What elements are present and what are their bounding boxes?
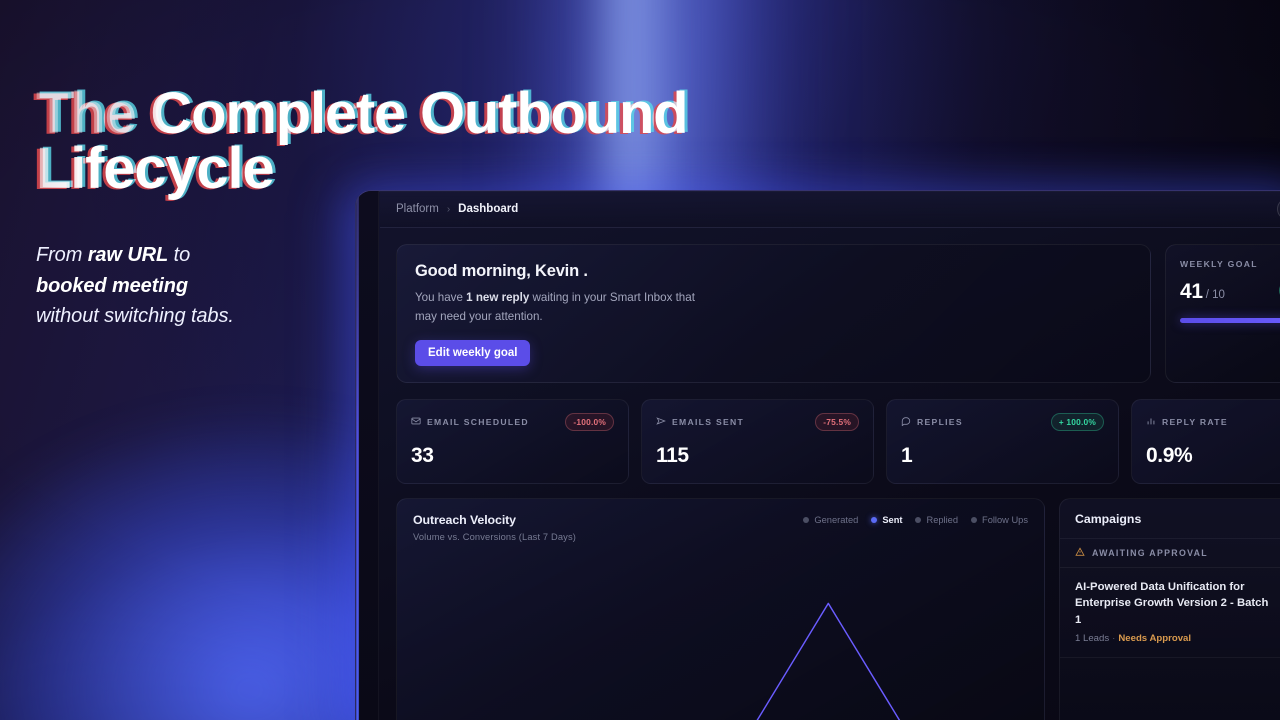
campaigns-section-label: AWAITING APPROVAL	[1092, 548, 1208, 558]
stat-header: EMAILS SENT -75.5%	[656, 413, 859, 431]
legend-dot-icon	[803, 517, 809, 523]
legend-item-generated[interactable]: Generated	[803, 515, 858, 525]
greeting-row: Good morning, Kevin . You have 1 new rep…	[396, 244, 1280, 383]
breadcrumb-platform[interactable]: Platform	[396, 203, 439, 215]
campaign-status: Needs Approval	[1118, 633, 1191, 644]
dashboard-content: Good morning, Kevin . You have 1 new rep…	[380, 228, 1280, 720]
stat-value: 0.9%	[1146, 444, 1280, 468]
headline-line-2: Lifecycle Lifecycle Lifecycle	[36, 141, 456, 196]
headline-line-2-text: Lifecycle	[36, 136, 273, 201]
subcopy-to: to	[168, 244, 190, 266]
campaign-name: AI-Powered Data Unification for Enterpri…	[1075, 579, 1280, 628]
legend-label: Generated	[814, 515, 858, 525]
greeting-card: Good morning, Kevin . You have 1 new rep…	[396, 244, 1151, 383]
edit-weekly-goal-button[interactable]: Edit weekly goal	[415, 340, 530, 366]
stat-label: EMAILS SENT	[672, 417, 744, 427]
stat-card-replies[interactable]: REPLIES + 100.0% 1	[886, 399, 1119, 484]
stat-value: 1	[901, 444, 1104, 468]
campaign-leads-count: 1 Leads	[1075, 633, 1109, 644]
chart-plot-area	[397, 551, 1044, 720]
outreach-velocity-card: Outreach Velocity Volume vs. Conversions…	[396, 498, 1045, 720]
campaign-list-item[interactable]: AI-Powered Data Unification for Enterpri…	[1060, 568, 1280, 658]
campaigns-title: Campaigns	[1060, 499, 1280, 538]
stat-header: REPLY RATE	[1146, 413, 1280, 431]
stat-title: REPLY RATE	[1146, 413, 1228, 431]
chat-bubble-icon	[901, 413, 911, 431]
subcopy-raw-url: raw URL	[88, 244, 168, 266]
weekly-goal-target: / 10	[1206, 289, 1225, 301]
chart-title: Outreach Velocity	[413, 513, 576, 527]
subcopy-from: From	[36, 244, 88, 266]
stat-delta-badge: -100.0%	[565, 413, 614, 431]
campaigns-section-awaiting-approval: AWAITING APPROVAL	[1060, 538, 1280, 568]
chart-subtitle: Volume vs. Conversions (Last 7 Days)	[413, 532, 576, 542]
stat-label: EMAIL SCHEDULED	[427, 417, 529, 427]
chevron-right-icon: ›	[447, 204, 450, 215]
subcopy-booked-meeting: booked meeting	[36, 275, 188, 297]
greeting-title: Good morning, Kevin .	[415, 262, 1132, 281]
breadcrumb-dashboard[interactable]: Dashboard	[458, 203, 518, 215]
stat-value: 33	[411, 444, 614, 468]
legend-label: Sent	[882, 515, 902, 525]
stat-card-reply-rate[interactable]: REPLY RATE 0.9%	[1131, 399, 1280, 484]
stat-label: REPLY RATE	[1162, 417, 1228, 427]
chart-line-svg	[397, 551, 1044, 720]
warning-triangle-icon	[1075, 547, 1085, 559]
stat-label: REPLIES	[917, 417, 963, 427]
greeting-body-a: You have	[415, 291, 466, 304]
dashboard-window: Platform › Dashboard Good morning, Kevin…	[355, 190, 1280, 720]
stat-value: 115	[656, 444, 859, 468]
stat-delta-badge: -75.5%	[815, 413, 859, 431]
stat-card-row: EMAIL SCHEDULED -100.0% 33 EMAILS SENT	[396, 399, 1280, 484]
topbar: Platform › Dashboard	[380, 191, 1280, 228]
stat-title: EMAIL SCHEDULED	[411, 413, 529, 431]
campaigns-card: Campaigns AWAITING APPROVAL AI-Powered D…	[1059, 498, 1280, 720]
greeting-new-reply-count: 1 new reply	[466, 291, 529, 304]
weekly-goal-values: 41/ 10	[1180, 280, 1280, 304]
legend-item-replied[interactable]: Replied	[915, 515, 958, 525]
legend-dot-icon	[871, 517, 877, 523]
chart-header: Outreach Velocity Volume vs. Conversions…	[413, 513, 1028, 542]
legend-dot-icon	[915, 517, 921, 523]
stat-delta-badge: + 100.0%	[1051, 413, 1104, 431]
stat-header: EMAIL SCHEDULED -100.0%	[411, 413, 614, 431]
stat-header: REPLIES + 100.0%	[901, 413, 1104, 431]
envelope-icon	[411, 413, 421, 431]
legend-label: Replied	[926, 515, 958, 525]
legend-item-sent[interactable]: Sent	[871, 515, 902, 525]
weekly-goal-card: WEEKLY GOAL 41/ 10 On track	[1165, 244, 1280, 383]
stat-card-email-scheduled[interactable]: EMAIL SCHEDULED -100.0% 33	[396, 399, 629, 484]
greeting-body: You have 1 new reply waiting in your Sma…	[415, 289, 720, 327]
stat-card-emails-sent[interactable]: EMAILS SENT -75.5% 115	[641, 399, 874, 484]
campaign-meta: 1 Leads·Needs Approval	[1075, 633, 1280, 644]
legend-label: Follow Ups	[982, 515, 1028, 525]
meta-separator: ·	[1109, 633, 1118, 644]
weekly-goal-label: WEEKLY GOAL	[1180, 259, 1280, 269]
lower-row: Outreach Velocity Volume vs. Conversions…	[396, 498, 1280, 720]
headline-line-1: The Complete Outbound The Complete Outbo…	[36, 86, 456, 141]
sidebar-rail[interactable]	[359, 191, 379, 720]
weekly-goal-progress-fill	[1180, 318, 1280, 323]
paper-plane-icon	[656, 413, 666, 431]
legend-dot-icon	[971, 517, 977, 523]
screenshot-stage: The Complete Outbound The Complete Outbo…	[0, 0, 1280, 720]
stat-title: EMAILS SENT	[656, 413, 744, 431]
stat-title: REPLIES	[901, 413, 963, 431]
chart-legend: Generated Sent Replied Follow Ups	[803, 513, 1028, 525]
hero-headline: The Complete Outbound The Complete Outbo…	[36, 86, 456, 196]
weekly-goal-value: 41	[1180, 280, 1203, 303]
breadcrumb: Platform › Dashboard	[396, 203, 518, 215]
weekly-goal-figure: 41/ 10	[1180, 280, 1225, 304]
legend-item-follow-ups[interactable]: Follow Ups	[971, 515, 1028, 525]
chart-titles: Outreach Velocity Volume vs. Conversions…	[413, 513, 576, 542]
weekly-goal-progress-bar	[1180, 318, 1280, 323]
bar-chart-icon	[1146, 413, 1156, 431]
